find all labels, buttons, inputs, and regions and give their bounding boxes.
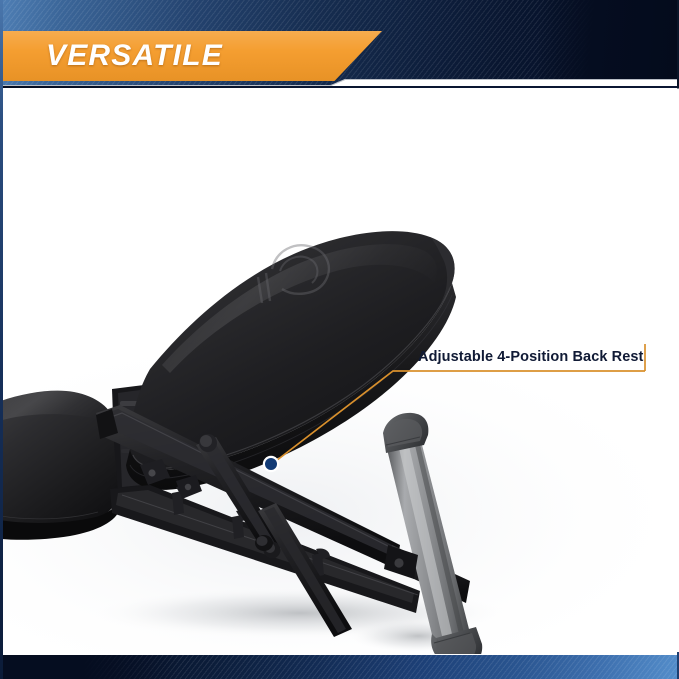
- footer-dark-left-cap: [0, 655, 180, 679]
- header-dark-right-cap: [539, 0, 679, 88]
- pop-pin-knob: [255, 535, 273, 551]
- product-illustration: [0, 93, 679, 654]
- left-edge-border: [0, 0, 3, 679]
- callout-label: Adjustable 4-Position Back Rest: [418, 348, 644, 366]
- header-bottom-rule: [0, 86, 679, 88]
- product-photo: [0, 93, 679, 654]
- footer-gradient-bar: [0, 655, 679, 679]
- product-feature-callout-image: VERSATILE: [0, 0, 679, 679]
- banner-title: VERSATILE: [46, 37, 223, 75]
